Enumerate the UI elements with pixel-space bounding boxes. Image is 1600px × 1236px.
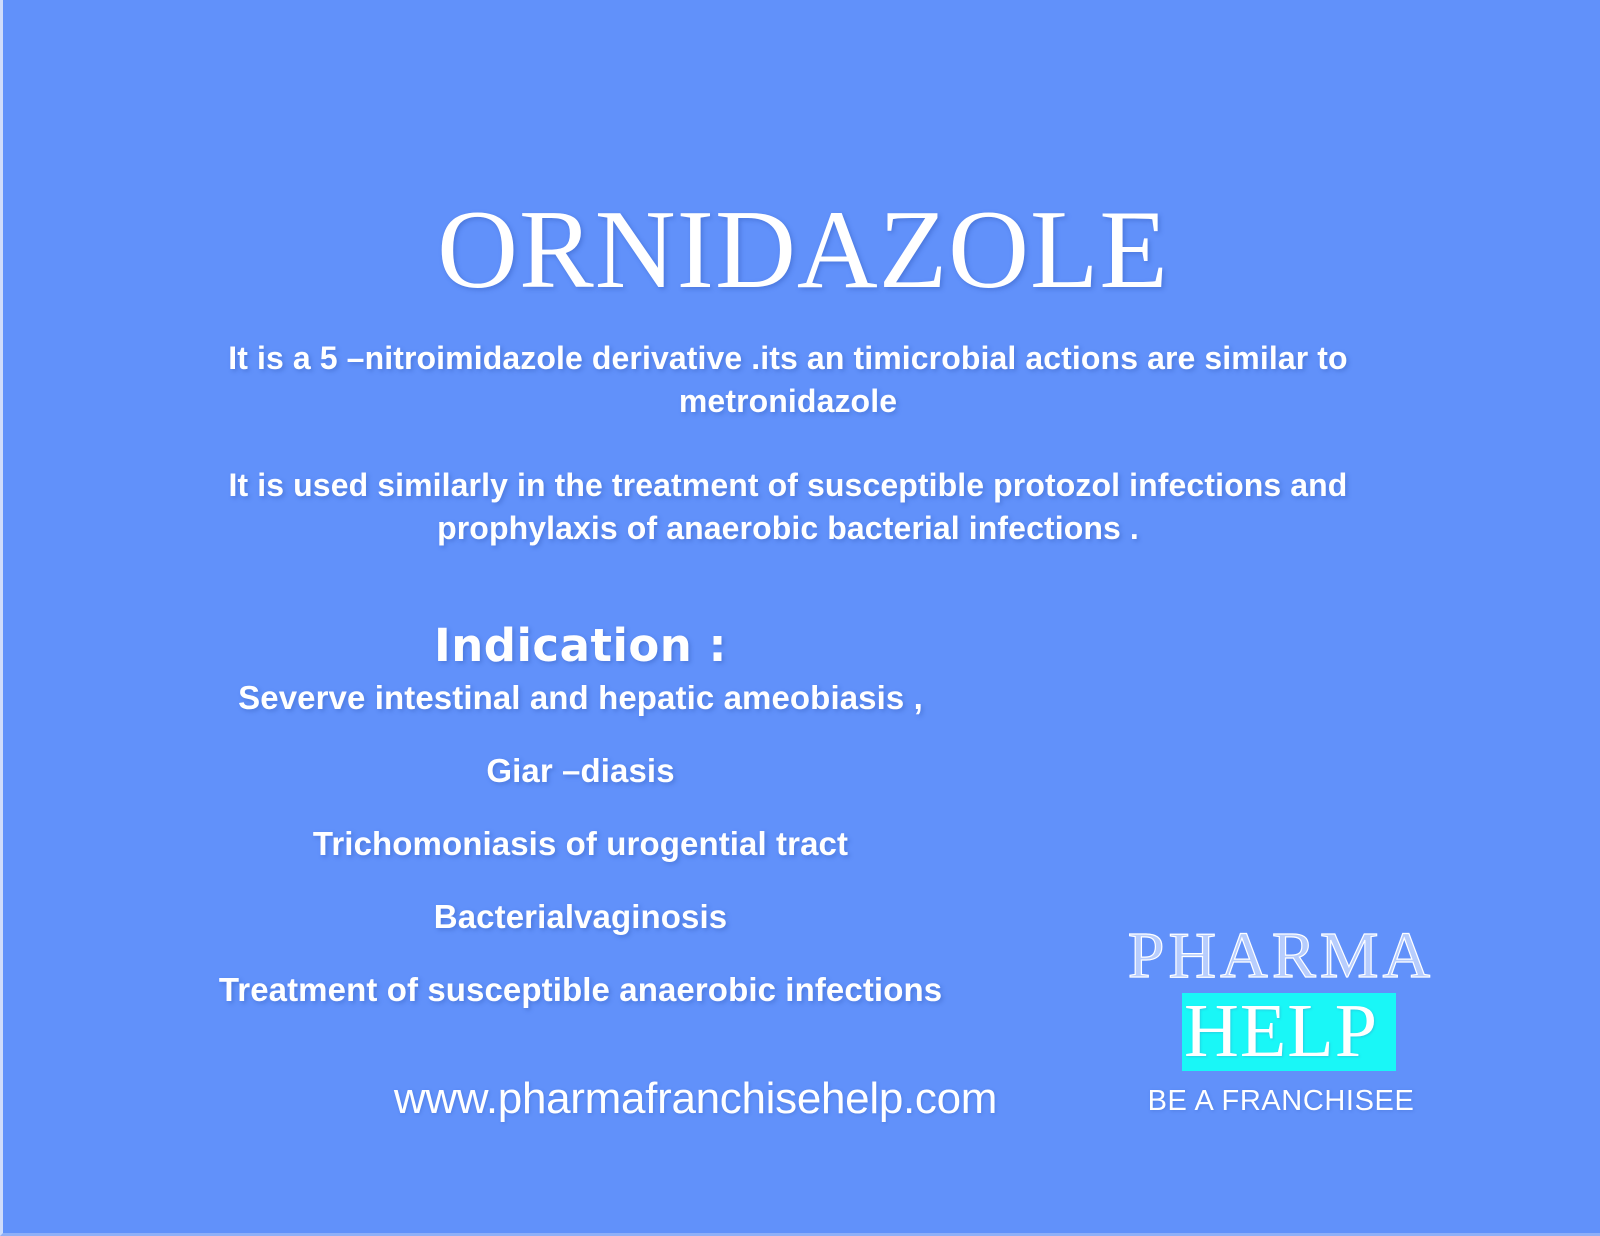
- presentation-slide: ORNIDAZOLE It is a 5 –nitroimidazole der…: [0, 0, 1600, 1236]
- list-item: Severve intestinal and hepatic ameobiasi…: [3, 678, 1158, 718]
- list-item: Giar –diasis: [3, 751, 1158, 791]
- indication-heading: Indication :: [3, 617, 1158, 675]
- list-item: Bacterialvaginosis: [3, 897, 1158, 937]
- list-item: Trichomoniasis of urogential tract: [3, 824, 1158, 864]
- pharmahelp-logo: PHARMA HELP BE A FRANCHISEE: [1081, 905, 1481, 1125]
- indication-list: Severve intestinal and hepatic ameobiasi…: [3, 678, 1158, 1043]
- intro-paragraph-1: It is a 5 –nitroimidazole derivative .it…: [183, 337, 1393, 423]
- page-title: ORNIDAZOLE: [3, 193, 1600, 307]
- logo-tagline: BE A FRANCHISEE: [1081, 1083, 1481, 1119]
- list-item: Treatment of susceptible anaerobic infec…: [3, 970, 1158, 1010]
- logo-word-help: HELP: [1081, 987, 1481, 1075]
- intro-paragraph-2: It is used similarly in the treatment of…: [198, 464, 1378, 550]
- logo-word-pharma: PHARMA: [1081, 921, 1481, 991]
